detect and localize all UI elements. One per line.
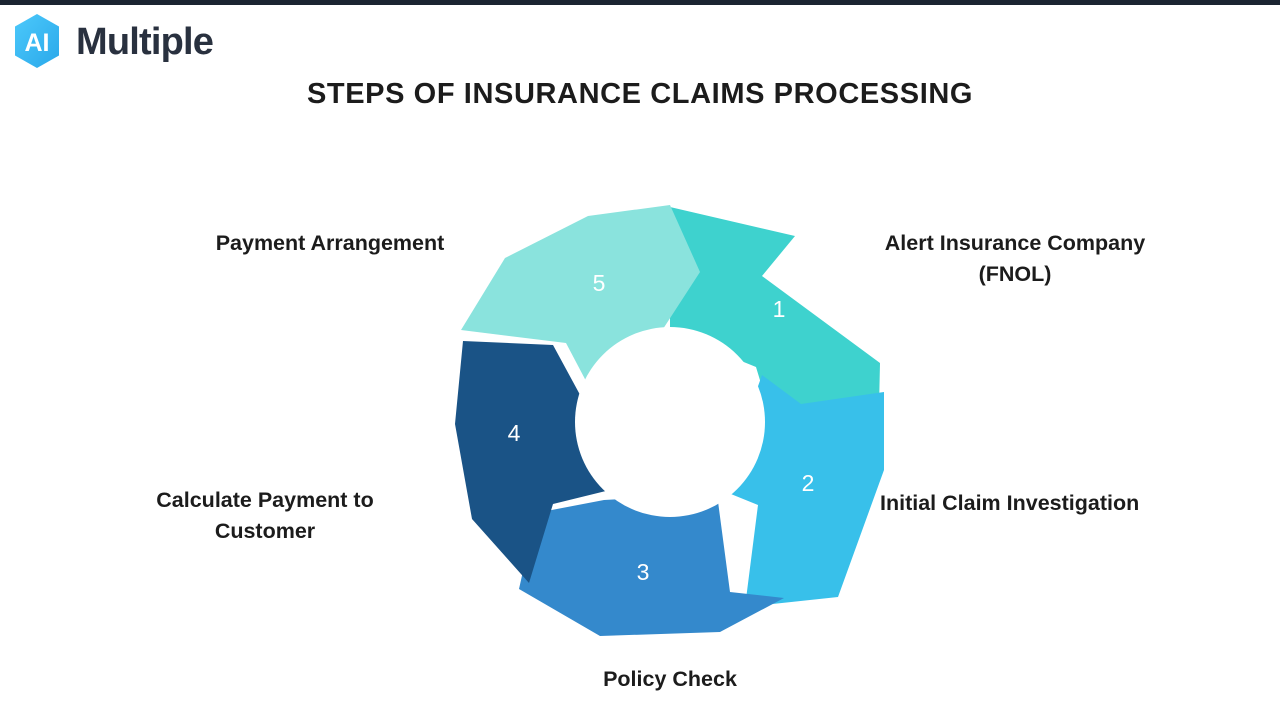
segment-number-1: 1 <box>773 296 786 322</box>
segment-number-5: 5 <box>593 270 606 296</box>
step-label-1-line1: Alert Insurance Company <box>885 231 1145 255</box>
step-label-2: Initial Claim Investigation <box>880 488 1230 519</box>
segment-number-2: 2 <box>802 470 815 496</box>
donut-center-hole <box>575 327 765 517</box>
step-label-4-line2: Customer <box>100 516 430 547</box>
segment-number-4: 4 <box>508 420 521 446</box>
step-label-5-line1: Payment Arrangement <box>216 231 445 255</box>
process-cycle-chart: 1 2 3 4 5 <box>0 0 1280 720</box>
step-label-3: Policy Check <box>520 664 820 695</box>
segment-number-3: 3 <box>637 559 650 585</box>
step-label-4-line1: Calculate Payment to <box>156 488 373 512</box>
step-label-2-line1: Initial Claim Investigation <box>880 491 1139 515</box>
step-label-3-line1: Policy Check <box>603 667 737 691</box>
step-label-1: Alert Insurance Company (FNOL) <box>845 228 1185 289</box>
step-label-4: Calculate Payment to Customer <box>100 485 430 546</box>
donut-segment-3[interactable] <box>519 494 784 636</box>
step-label-5: Payment Arrangement <box>140 228 520 259</box>
step-label-1-line2: (FNOL) <box>845 259 1185 290</box>
